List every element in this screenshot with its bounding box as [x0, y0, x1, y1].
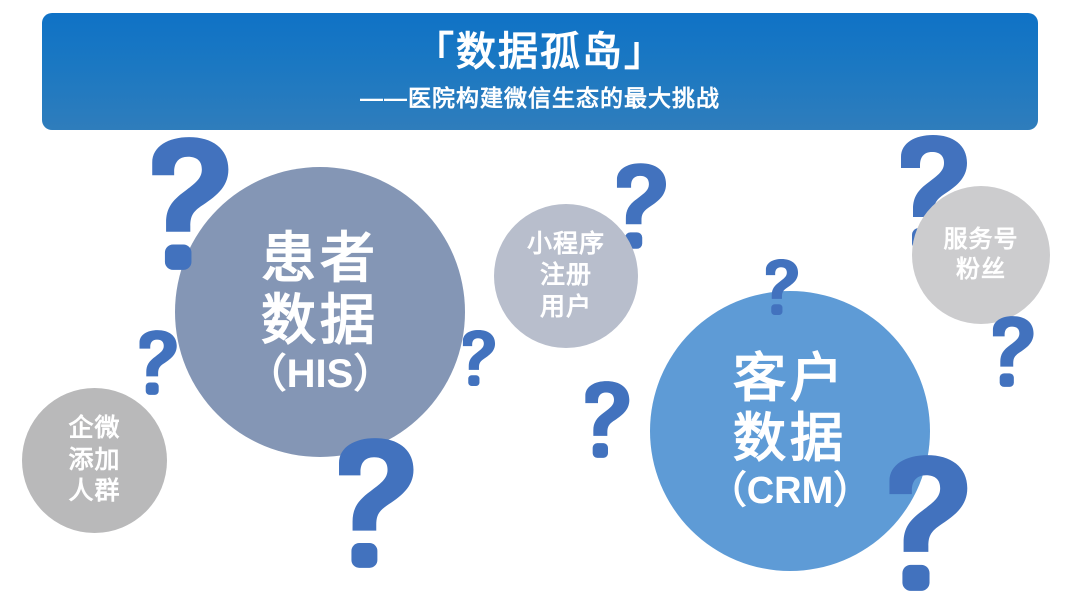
bubble-service-account-line1: 服务号: [944, 225, 1019, 255]
bubble-crm-line1: 客户: [733, 349, 847, 409]
bubble-qiwei: 企微 添加 人群: [22, 388, 167, 533]
bubble-his-line3: （HIS）: [247, 352, 394, 398]
bubble-qiwei-line3: 人群: [68, 476, 120, 508]
banner-subtitle: ——医院构建微信生态的最大挑战: [360, 86, 720, 111]
question-mark-icon: [459, 330, 497, 386]
bubble-service-account: 服务号 粉丝: [912, 186, 1050, 324]
question-mark-icon: [762, 259, 800, 315]
bubble-crm-line3: （CRM）: [709, 470, 872, 513]
banner-title: 「数据孤岛」: [414, 31, 666, 74]
question-mark-icon: [880, 455, 972, 591]
question-mark-icon: [988, 316, 1036, 387]
bubble-qiwei-line2: 添加: [68, 445, 120, 477]
bubble-mini-program: 小程序 注册 用户: [494, 204, 638, 348]
bubble-qiwei-line1: 企微: [68, 413, 120, 445]
header-banner: 「数据孤岛」 ——医院构建微信生态的最大挑战: [42, 13, 1038, 130]
question-mark-icon: [330, 438, 418, 568]
question-mark-icon: [143, 137, 233, 270]
bubble-mini-program-line3: 用户: [540, 292, 592, 324]
question-mark-icon: [135, 330, 179, 395]
bubble-service-account-line2: 粉丝: [956, 255, 1006, 285]
bubble-his-line1: 患者: [261, 227, 379, 290]
question-mark-icon: [580, 381, 632, 458]
infographic-canvas: 「数据孤岛」 ——医院构建微信生态的最大挑战: [0, 0, 1080, 599]
bubble-mini-program-line2: 注册: [540, 260, 592, 292]
bubble-mini-program-line1: 小程序: [527, 229, 605, 261]
bubble-his-line2: 数据: [261, 289, 379, 352]
bubble-crm-line2: 数据: [733, 409, 847, 469]
